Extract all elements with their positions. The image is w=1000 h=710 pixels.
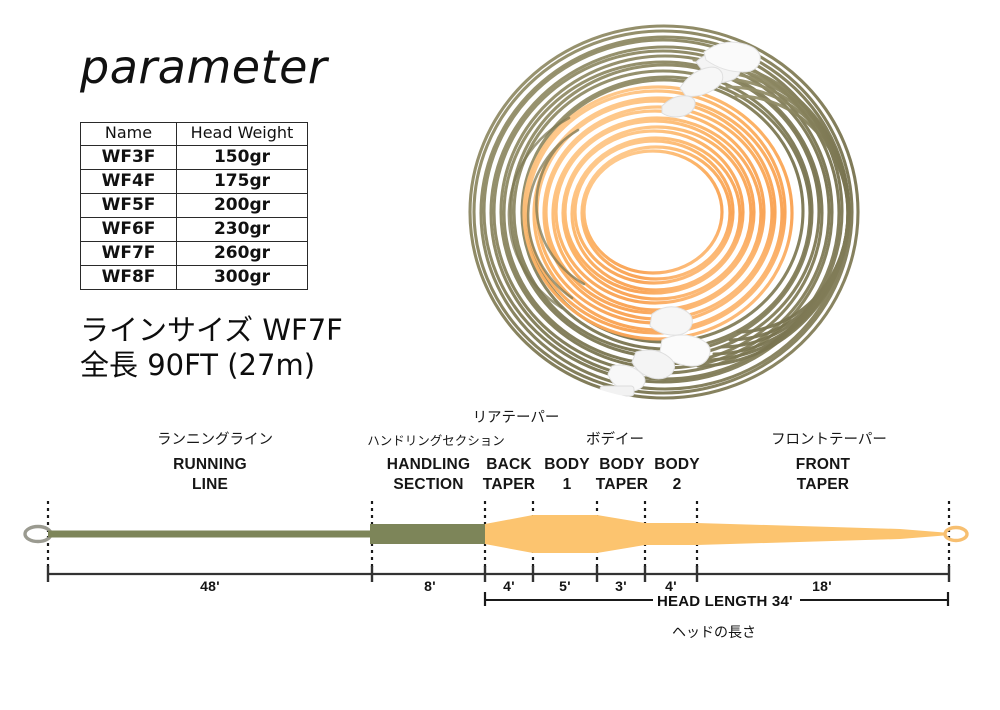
label-jp-back-taper: リアテーパー: [446, 406, 586, 427]
label-en-running-line-l1: RUNNING: [155, 455, 265, 475]
cell-head-weight: 150gr: [177, 145, 308, 169]
cell-head-weight: 200gr: [177, 193, 308, 217]
label-en-front-taper: FRONT TAPER: [786, 455, 860, 496]
label-en-body-taper: BODY TAPER: [590, 455, 654, 496]
dimension-body-2: 4': [621, 578, 721, 594]
label-en-body-taper-l2: TAPER: [590, 475, 654, 495]
table-row: WF4F 175gr: [81, 169, 308, 193]
segment-handling-section: [370, 524, 488, 544]
label-en-handling-section-l2: SECTION: [377, 475, 480, 495]
taper-diagram: ランニングライン ハンドリングセクション リアテーパー ボデイー フロントテーパ…: [0, 400, 1000, 650]
label-en-running-line: RUNNING LINE: [155, 455, 265, 496]
cell-head-weight: 230gr: [177, 218, 308, 242]
table-row: WF7F 260gr: [81, 242, 308, 266]
rear-welded-loop-icon: [25, 527, 51, 542]
label-en-front-taper-l1: FRONT: [786, 455, 860, 475]
total-length-text: 全長 90FT (27m): [80, 348, 343, 383]
label-en-back-taper: BACK TAPER: [478, 455, 540, 496]
dimension-front-taper: 18': [772, 578, 872, 594]
label-en-back-taper-l2: TAPER: [478, 475, 540, 495]
label-jp-handling-section: ハンドリングセクション: [356, 430, 516, 449]
label-en-body-2: BODY 2: [646, 455, 708, 496]
page-title: parameter: [80, 44, 327, 90]
label-en-body-1-l2: 1: [537, 475, 597, 495]
label-en-handling-section: HANDLING SECTION: [377, 455, 480, 496]
table-row: WF3F 150gr: [81, 145, 308, 169]
spec-table: Name Head Weight WF3F 150gr WF4F 175gr W…: [80, 122, 308, 290]
label-jp-running-line: ランニングライン: [130, 428, 300, 449]
label-en-back-taper-l1: BACK: [478, 455, 540, 475]
cell-head-weight: 260gr: [177, 242, 308, 266]
label-en-body-taper-l1: BODY: [590, 455, 654, 475]
label-jp-front-taper: フロントテーパー: [749, 428, 909, 449]
cell-name: WF6F: [81, 218, 177, 242]
label-jp-body: ボデイー: [555, 428, 675, 449]
fly-line-coil-photo: [466, 22, 862, 402]
column-header-head-weight: Head Weight: [177, 123, 308, 146]
label-en-body-2-l1: BODY: [646, 455, 708, 475]
table-header-row: Name Head Weight: [81, 123, 308, 146]
label-en-handling-section-l1: HANDLING: [377, 455, 480, 475]
segment-running-line: [48, 531, 372, 538]
cell-head-weight: 175gr: [177, 169, 308, 193]
label-en-body-2-l2: 2: [646, 475, 708, 495]
table-row: WF8F 300gr: [81, 266, 308, 290]
line-size-text: ラインサイズ WF7F: [80, 313, 343, 348]
column-header-name: Name: [81, 123, 177, 146]
label-en-running-line-l2: LINE: [155, 475, 265, 495]
dimension-running-line: 48': [160, 578, 260, 594]
table-row: WF5F 200gr: [81, 193, 308, 217]
cell-head-weight: 300gr: [177, 266, 308, 290]
cell-name: WF5F: [81, 193, 177, 217]
head-length-label: HEAD LENGTH 34': [657, 593, 793, 610]
spec-summary: ラインサイズ WF7F 全長 90FT (27m): [80, 313, 343, 384]
label-en-front-taper-l2: TAPER: [786, 475, 860, 495]
front-welded-loop-icon: [945, 528, 967, 541]
page-root: parameter Name Head Weight WF3F 150gr WF…: [0, 0, 1000, 710]
head-length-jp-label: ヘッドの長さ: [672, 622, 756, 642]
cell-name: WF3F: [81, 145, 177, 169]
segment-head-taper-profile: [485, 515, 944, 553]
table-row: WF6F 230gr: [81, 218, 308, 242]
label-en-body-1-l1: BODY: [537, 455, 597, 475]
label-en-body-1: BODY 1: [537, 455, 597, 496]
cell-name: WF7F: [81, 242, 177, 266]
cell-name: WF8F: [81, 266, 177, 290]
cell-name: WF4F: [81, 169, 177, 193]
